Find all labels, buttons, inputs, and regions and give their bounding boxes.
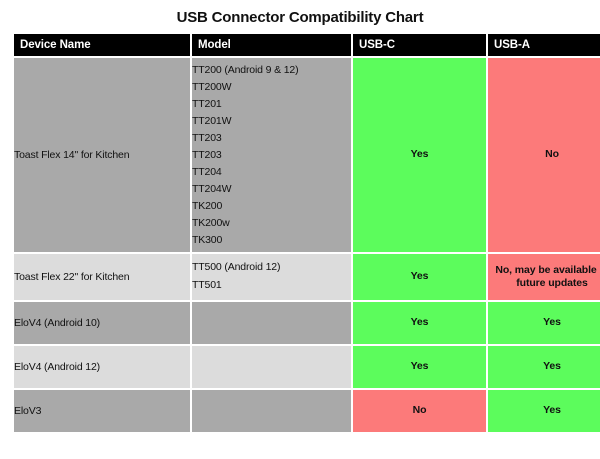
cell-usb-c-status: Yes xyxy=(353,58,488,254)
compatibility-table-container: Device Name Model USB-C USB-A Toast Flex… xyxy=(14,34,586,434)
cell-model-list xyxy=(192,302,353,346)
cell-model-list: TT500 (Android 12)TT501 xyxy=(192,254,353,302)
cell-device-name: EloV3 xyxy=(14,390,192,434)
table-body: Toast Flex 14" for KitchenTT200 (Android… xyxy=(14,58,600,434)
table-row: EloV4 (Android 12)YesYes xyxy=(14,346,600,390)
table-header-row: Device Name Model USB-C USB-A xyxy=(14,34,600,58)
page-title: USB Connector Compatibility Chart xyxy=(0,0,600,28)
model-number: TT500 (Android 12) xyxy=(192,259,351,277)
cell-usb-a-status: Yes xyxy=(488,390,600,434)
column-header-device-name: Device Name xyxy=(14,34,192,58)
model-number: TK200 xyxy=(192,198,351,215)
cell-usb-c-status: No xyxy=(353,390,488,434)
cell-usb-a-status: No, may be available in future updates xyxy=(488,254,600,302)
cell-device-name: EloV4 (Android 12) xyxy=(14,346,192,390)
cell-usb-a-status: No xyxy=(488,58,600,254)
model-number: TT201W xyxy=(192,113,351,130)
model-number: TT203 xyxy=(192,147,351,164)
model-number: TT200W xyxy=(192,79,351,96)
usb-compatibility-table: Device Name Model USB-C USB-A Toast Flex… xyxy=(14,34,600,434)
model-number: TT201 xyxy=(192,96,351,113)
cell-usb-a-status: Yes xyxy=(488,346,600,390)
cell-device-name: EloV4 (Android 10) xyxy=(14,302,192,346)
cell-model-list: TT200 (Android 9 & 12)TT200WTT201TT201WT… xyxy=(192,58,353,254)
cell-model-list xyxy=(192,390,353,434)
table-row: Toast Flex 22" for KitchenTT500 (Android… xyxy=(14,254,600,302)
cell-model-list xyxy=(192,346,353,390)
model-number: TT203 xyxy=(192,130,351,147)
table-header: Device Name Model USB-C USB-A xyxy=(14,34,600,58)
model-number: TK200w xyxy=(192,215,351,232)
column-header-model: Model xyxy=(192,34,353,58)
cell-usb-c-status: Yes xyxy=(353,254,488,302)
model-number: TT204W xyxy=(192,181,351,198)
table-row: EloV3NoYes xyxy=(14,390,600,434)
cell-usb-c-status: Yes xyxy=(353,346,488,390)
cell-usb-c-status: Yes xyxy=(353,302,488,346)
cell-usb-a-status: Yes xyxy=(488,302,600,346)
table-row: EloV4 (Android 10)YesYes xyxy=(14,302,600,346)
model-number: TT501 xyxy=(192,277,351,295)
model-number: TT204 xyxy=(192,164,351,181)
column-header-usb-a: USB-A xyxy=(488,34,600,58)
model-number: TT200 (Android 9 & 12) xyxy=(192,62,351,79)
column-header-usb-c: USB-C xyxy=(353,34,488,58)
model-number: TK300 xyxy=(192,232,351,249)
cell-device-name: Toast Flex 22" for Kitchen xyxy=(14,254,192,302)
cell-device-name: Toast Flex 14" for Kitchen xyxy=(14,58,192,254)
table-row: Toast Flex 14" for KitchenTT200 (Android… xyxy=(14,58,600,254)
